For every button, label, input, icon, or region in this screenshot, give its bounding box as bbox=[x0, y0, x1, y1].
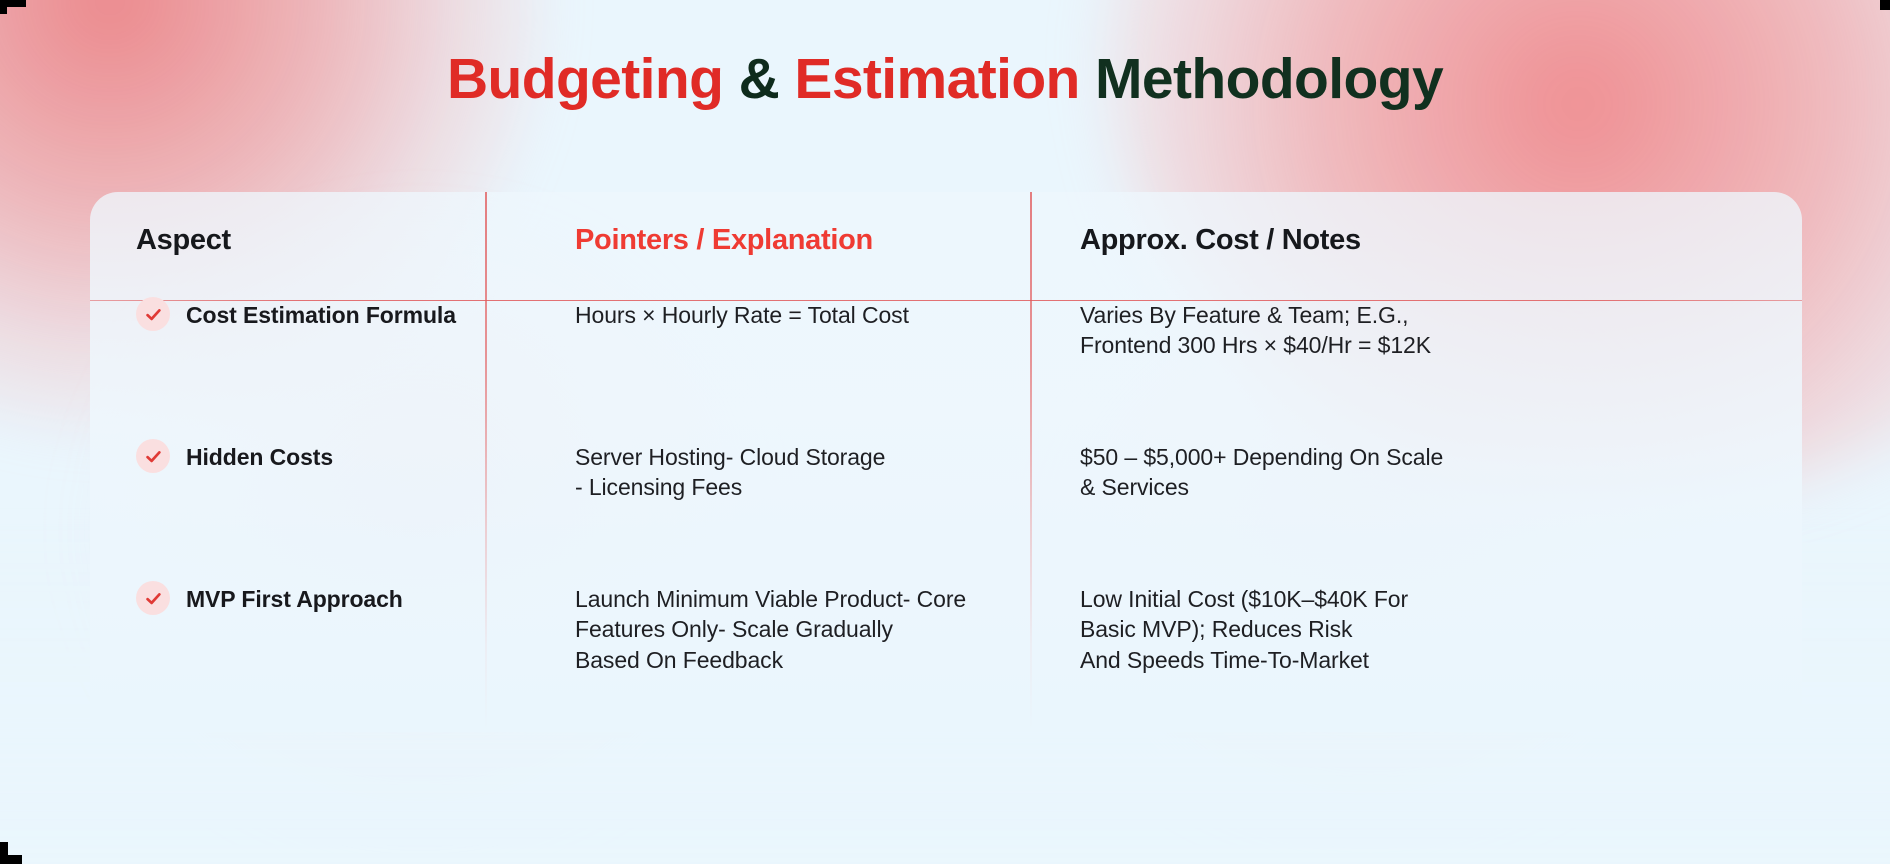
page-title-part-2: Estimation bbox=[794, 47, 1079, 111]
table-cell-cost-notes: $50 – $5,000+ Depending On Scale & Servi… bbox=[1080, 442, 1640, 503]
aspect-label: MVP First Approach bbox=[186, 584, 403, 614]
check-circle-icon bbox=[136, 297, 170, 331]
column-header-aspect: Aspect bbox=[136, 224, 476, 257]
page-title-part-3: Methodology bbox=[1095, 47, 1443, 111]
pointers-text: Launch Minimum Viable Product- Core Feat… bbox=[575, 584, 1015, 675]
methodology-table-card: Aspect Pointers / Explanation Approx. Co… bbox=[90, 192, 1802, 732]
cost-notes-text: $50 – $5,000+ Depending On Scale & Servi… bbox=[1080, 442, 1640, 503]
aspect-label: Hidden Costs bbox=[186, 442, 333, 472]
frame-edge-right-top bbox=[1880, 0, 1890, 10]
table-cell-aspect: MVP First Approach bbox=[136, 584, 476, 615]
table-cell-pointers: Launch Minimum Viable Product- Core Feat… bbox=[575, 584, 1015, 675]
table-header-cell-cost: Approx. Cost / Notes bbox=[1080, 224, 1640, 257]
aspect-label: Cost Estimation Formula bbox=[186, 300, 456, 330]
table-header-row: Aspect Pointers / Explanation Approx. Co… bbox=[90, 192, 1802, 300]
table-header-cell-aspect: Aspect bbox=[136, 224, 476, 257]
table-cell-aspect: Cost Estimation Formula bbox=[136, 300, 476, 331]
table-cell-cost-notes: Low Initial Cost ($10K–$40K For Basic MV… bbox=[1080, 584, 1640, 675]
table-cell-pointers: Server Hosting- Cloud Storage - Licensin… bbox=[575, 442, 1015, 503]
cost-notes-text: Low Initial Cost ($10K–$40K For Basic MV… bbox=[1080, 584, 1640, 675]
table-cell-cost-notes: Varies By Feature & Team; E.G., Frontend… bbox=[1080, 300, 1640, 361]
pointers-text: Hours × Hourly Rate = Total Cost bbox=[575, 300, 1015, 330]
check-circle-icon bbox=[136, 581, 170, 615]
page-title-part-1: Budgeting bbox=[447, 47, 723, 111]
table-cell-pointers: Hours × Hourly Rate = Total Cost bbox=[575, 300, 1015, 330]
methodology-table: Aspect Pointers / Explanation Approx. Co… bbox=[90, 192, 1802, 732]
page-title: Budgeting & Estimation Methodology bbox=[0, 48, 1890, 111]
table-cell-aspect: Hidden Costs bbox=[136, 442, 476, 473]
frame-edge-left bbox=[0, 0, 7, 14]
pointers-text: Server Hosting- Cloud Storage - Licensin… bbox=[575, 442, 1015, 503]
cost-notes-text: Varies By Feature & Team; E.G., Frontend… bbox=[1080, 300, 1640, 361]
column-header-cost-notes: Approx. Cost / Notes bbox=[1080, 224, 1640, 257]
check-circle-icon bbox=[136, 439, 170, 473]
page-title-ampersand: & bbox=[739, 47, 780, 111]
frame-edge-left-bottom bbox=[0, 842, 8, 864]
table-header-cell-pointers: Pointers / Explanation bbox=[575, 224, 1015, 257]
slide-canvas: Budgeting & Estimation Methodology Aspec… bbox=[0, 0, 1890, 864]
column-header-pointers: Pointers / Explanation bbox=[575, 224, 1015, 257]
